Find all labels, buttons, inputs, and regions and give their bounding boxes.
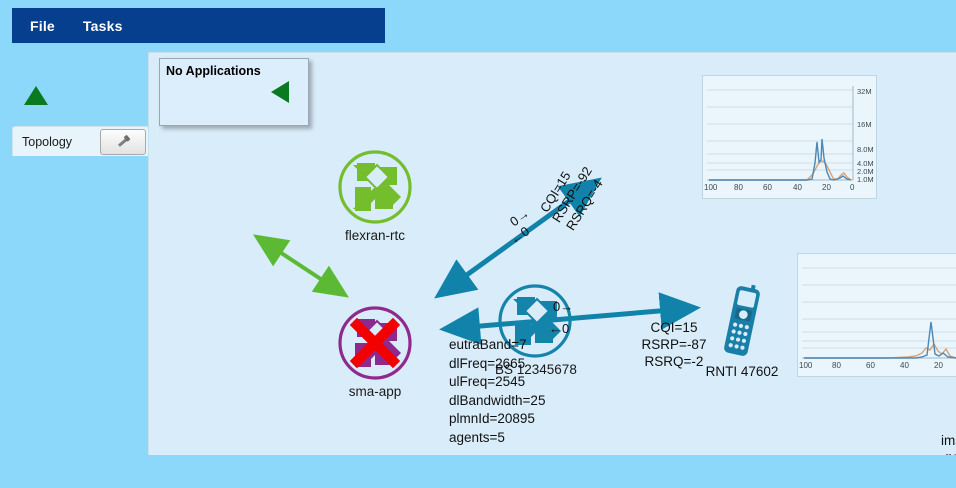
- menu-item-file[interactable]: File: [30, 18, 55, 34]
- bs-property: dlFreq=2665: [449, 355, 545, 374]
- menu-bar: File Tasks: [12, 8, 385, 43]
- ue-info-line: dlSliceId=0: [941, 451, 956, 456]
- topology-canvas[interactable]: No Applications: [148, 52, 956, 455]
- ue-47602-info: imsi=0 dlSliceId=0 ulSliceId=0: [941, 432, 956, 455]
- bs-property: plmnId=20895: [449, 410, 545, 429]
- svg-text:1.0M: 1.0M: [857, 175, 874, 184]
- edge-flexran-bs[interactable]: [257, 237, 345, 295]
- node-sma-app[interactable]: sma-app: [335, 303, 415, 399]
- edge-rate-in-ue47602: ←0: [549, 321, 569, 336]
- svg-text:8.0M: 8.0M: [857, 145, 874, 154]
- node-label: flexran-rtc: [335, 228, 415, 243]
- svg-text:80: 80: [832, 361, 841, 370]
- triangle-up-icon[interactable]: [24, 86, 48, 105]
- bs-property: eutraBand=7: [449, 336, 545, 355]
- svg-text:80: 80: [734, 183, 743, 192]
- edge-metric-rsrp-ue47602: RSRP=-87: [619, 336, 729, 353]
- svg-text:16M: 16M: [857, 120, 872, 129]
- node-flexran-rtc[interactable]: flexran-rtc: [335, 147, 415, 243]
- chart-ue-49281[interactable]: 32M 16M 8.0M 4.0M 2.0M 1.0M 100 80 60 40…: [702, 75, 877, 199]
- svg-text:60: 60: [866, 361, 875, 370]
- tab-topology[interactable]: Topology: [12, 126, 149, 156]
- edge-metrics-ue47602: CQI=15 RSRP=-87 RSRQ=-2: [619, 319, 729, 370]
- edge-metric-cqi-ue47602: CQI=15: [619, 319, 729, 336]
- red-x-icon: [348, 316, 402, 370]
- svg-text:40: 40: [793, 183, 802, 192]
- chart-ue-47602[interactable]: 100 80 60 40 20: [797, 253, 956, 377]
- bs-property: ulFreq=2545: [449, 373, 545, 392]
- tab-topology-label: Topology: [13, 135, 100, 149]
- bs-property: agents=5: [449, 429, 545, 448]
- bs-properties: eutraBand=7 dlFreq=2665 ulFreq=2545 dlBa…: [449, 336, 545, 447]
- svg-text:100: 100: [704, 183, 718, 192]
- svg-text:20: 20: [822, 183, 831, 192]
- svg-text:100: 100: [799, 361, 813, 370]
- svg-text:32M: 32M: [857, 87, 872, 96]
- app-window: File Tasks Topology No Applications: [0, 0, 956, 488]
- svg-text:20: 20: [934, 361, 943, 370]
- menu-item-tasks[interactable]: Tasks: [83, 18, 123, 34]
- ue-info-line: imsi=0: [941, 432, 956, 451]
- node-label: sma-app: [335, 384, 415, 399]
- svg-text:60: 60: [763, 183, 772, 192]
- pin-icon[interactable]: [100, 129, 146, 155]
- edge-rate-out-ue47602: 0→: [553, 299, 573, 314]
- svg-text:40: 40: [900, 361, 909, 370]
- flexran-node-icon: [335, 147, 415, 227]
- edge-metric-rsrq-ue47602: RSRQ=-2: [619, 353, 729, 370]
- bs-property: dlBandwidth=25: [449, 392, 545, 411]
- flexran-node-icon: [335, 303, 415, 383]
- svg-text:0: 0: [850, 183, 855, 192]
